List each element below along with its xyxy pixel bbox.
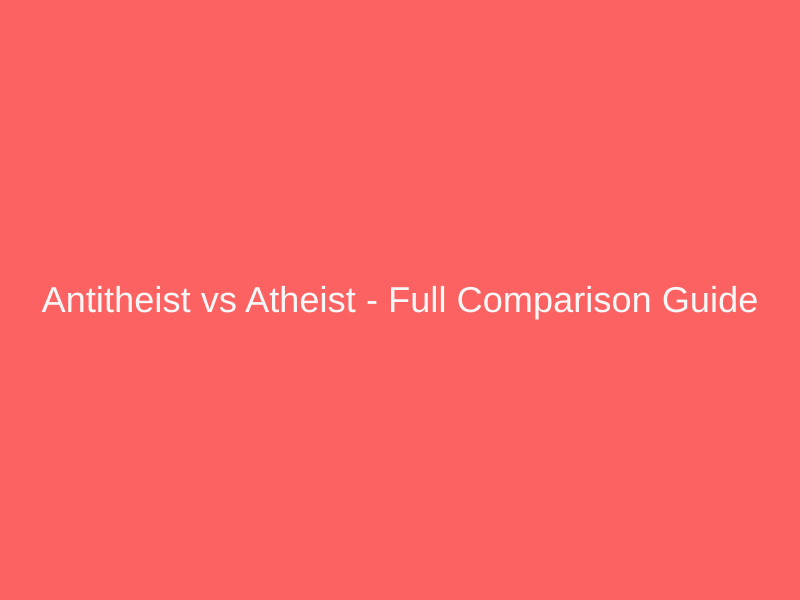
placeholder-card: Antitheist vs Atheist - Full Comparison … <box>0 0 800 600</box>
page-title: Antitheist vs Atheist - Full Comparison … <box>18 279 783 321</box>
